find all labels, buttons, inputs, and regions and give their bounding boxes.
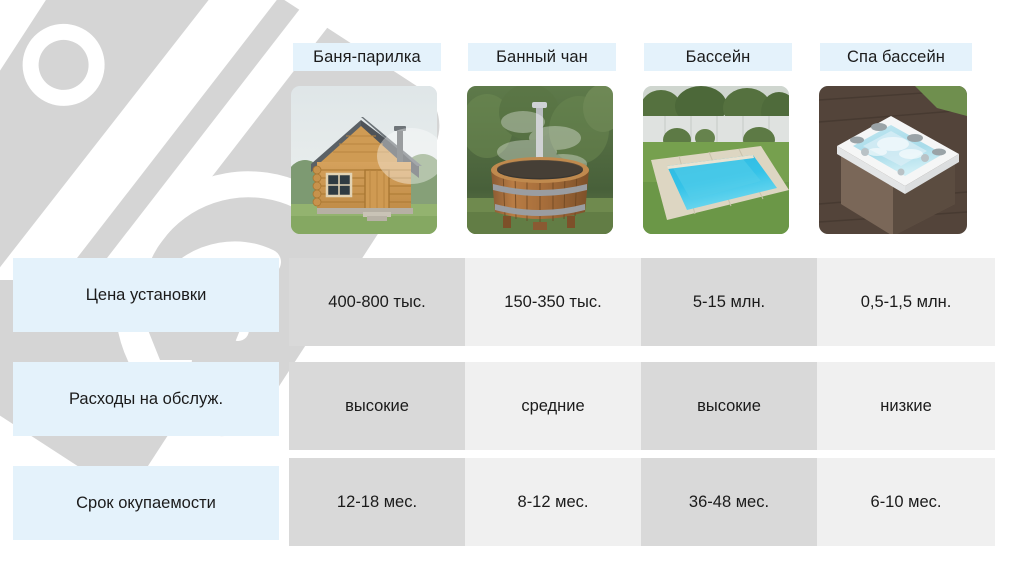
row-label-1: Расходы на обслуж. [13,362,279,436]
cell-r0-c2: 5-15 млн. [641,258,817,346]
column-image-spa-hot-tub-on-deck [819,86,967,234]
column-header-1: Банный чан [468,43,616,71]
cell-r0-c3: 0,5-1,5 млн. [817,258,995,346]
cell-r1-c1: средние [465,362,641,450]
column-image-log-sauna-cabin [291,86,437,234]
cell-r0-c0: 400-800 тыс. [289,258,465,346]
cell-r0-c1: 150-350 тыс. [465,258,641,346]
row-label-0: Цена установки [13,258,279,332]
cell-r1-c0: высокие [289,362,465,450]
column-header-2: Бассейн [644,43,792,71]
comparison-table-infographic: Баня-парилка Банный чан Бассейн Спа басс… [0,0,1024,579]
cell-r2-c2: 36-48 мес. [641,458,817,546]
cell-r1-c3: низкие [817,362,995,450]
cell-r2-c3: 6-10 мес. [817,458,995,546]
column-header-3: Спа бассейн [820,43,972,71]
column-image-wooden-hot-tub [467,86,613,234]
column-header-0: Баня-парилка [293,43,441,71]
cell-r1-c2: высокие [641,362,817,450]
row-label-2: Срок окупаемости [13,466,279,540]
cell-r2-c1: 8-12 мес. [465,458,641,546]
cell-r2-c0: 12-18 мес. [289,458,465,546]
column-image-rectangular-swimming-pool [643,86,789,234]
